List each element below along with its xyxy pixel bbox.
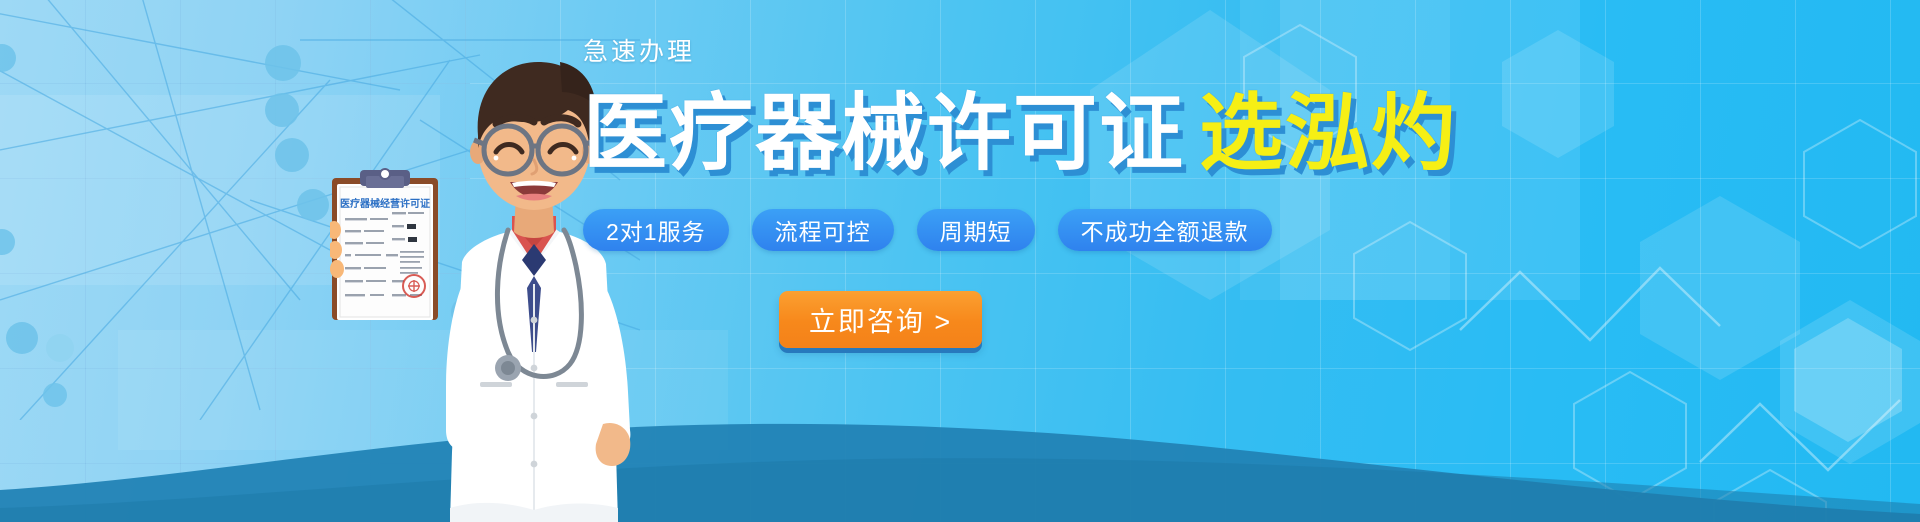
feature-pill[interactable]: 流程可控 [752,209,894,251]
consult-now-button[interactable]: 立即咨询 > [779,291,982,348]
headline-primary: 医疗器械许可证 [583,86,1185,180]
banner-content: 急速办理 医疗器械许可证选泓灼 2对1服务 流程可控 周期短 不成功全额退款 立… [583,40,1343,348]
page-title: 医疗器械许可证选泓灼 [583,91,1343,175]
cta-row: 立即咨询 > [583,291,1343,348]
feature-pill-list: 2对1服务 流程可控 周期短 不成功全额退款 [583,209,1343,251]
headline-highlight: 选泓灼 [1199,86,1457,180]
feature-pill[interactable]: 周期短 [917,209,1035,251]
eyebrow-text: 急速办理 [583,40,1343,65]
feature-pill[interactable]: 不成功全额退款 [1058,209,1272,251]
bottom-wave-decoration [0,372,1920,522]
feature-pill[interactable]: 2对1服务 [583,209,729,251]
promo-banner: 医疗器械经营许可证 [0,0,1920,522]
